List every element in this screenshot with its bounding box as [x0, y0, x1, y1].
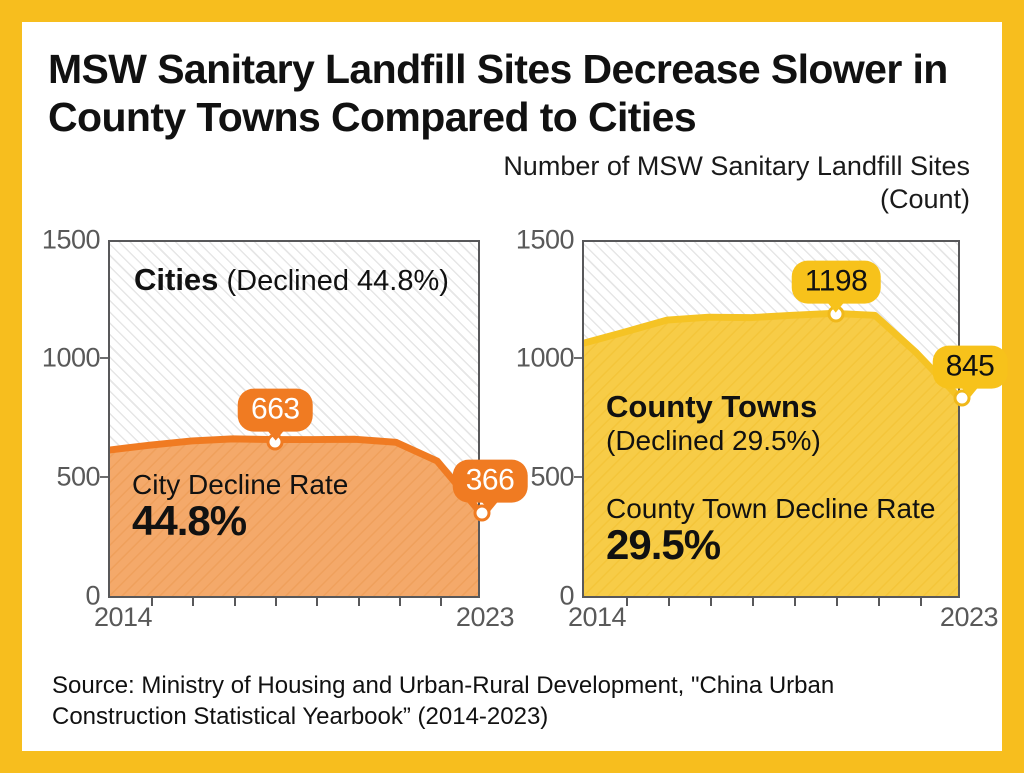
county-towns-rate-block: County Town Decline Rate 29.5% — [606, 494, 935, 567]
x-axis-label-start-cities: 2014 — [94, 602, 152, 633]
infographic-frame: MSW Sanitary Landfill Sites Decrease Slo… — [22, 22, 1002, 751]
cities-rate-block: City Decline Rate 44.8% — [132, 470, 348, 543]
county-towns-rate-label: County Town Decline Rate — [606, 494, 935, 523]
cities-header-rest: (Declined 44.8%) — [218, 265, 449, 297]
county-towns-panel-header: County Towns (Declined 29.5%) — [606, 390, 821, 456]
cities-datapoint-2018[interactable] — [267, 433, 284, 450]
y-axis-county-towns: 1500 1000 500 0 — [512, 228, 574, 588]
county-towns-datapoint-2020[interactable] — [828, 306, 845, 323]
x-axis-ticks-cities — [110, 587, 478, 597]
cities-rate-value: 44.8% — [132, 499, 348, 543]
source-note: Source: Ministry of Housing and Urban-Ru… — [52, 670, 962, 733]
county-towns-header-bold: County Towns — [606, 390, 821, 425]
chart-subtitle: Number of MSW Sanitary Landfill Sites (C… — [450, 150, 970, 216]
county-towns-header-rest: (Declined 29.5%) — [606, 425, 821, 456]
y-tick-label: 1500 — [516, 225, 574, 256]
x-axis-label-end-county-towns: 2023 — [940, 602, 998, 633]
cities-header-bold: Cities — [134, 262, 218, 297]
county-towns-rate-value: 29.5% — [606, 523, 935, 567]
cities-datapoint-2023[interactable] — [474, 504, 491, 521]
chart-panel-cities: 1500 1000 500 0 Ci — [38, 228, 508, 628]
cities-rate-label: City Decline Rate — [132, 470, 348, 499]
x-axis-label-end-cities: 2023 — [456, 602, 514, 633]
y-tick-label: 1000 — [42, 343, 100, 374]
y-tick-label: 500 — [56, 462, 100, 493]
page-title: MSW Sanitary Landfill Sites Decrease Slo… — [48, 46, 978, 141]
plot-area-cities: Cities (Declined 44.8%) City Decline Rat… — [108, 240, 480, 598]
chart-panel-county-towns: 1500 1000 500 0 — [512, 228, 990, 628]
y-tick-label: 1500 — [42, 225, 100, 256]
x-axis-label-start-county-towns: 2014 — [568, 602, 626, 633]
x-axis-ticks-county-towns — [584, 587, 958, 597]
y-tick-label: 500 — [530, 462, 574, 493]
cities-panel-header: Cities (Declined 44.8%) — [134, 262, 449, 298]
county-towns-datapoint-2023[interactable] — [954, 390, 971, 407]
y-axis-cities: 1500 1000 500 0 — [38, 228, 100, 588]
plot-area-county-towns: County Towns (Declined 29.5%) County Tow… — [582, 240, 960, 598]
y-tick-label: 1000 — [516, 343, 574, 374]
